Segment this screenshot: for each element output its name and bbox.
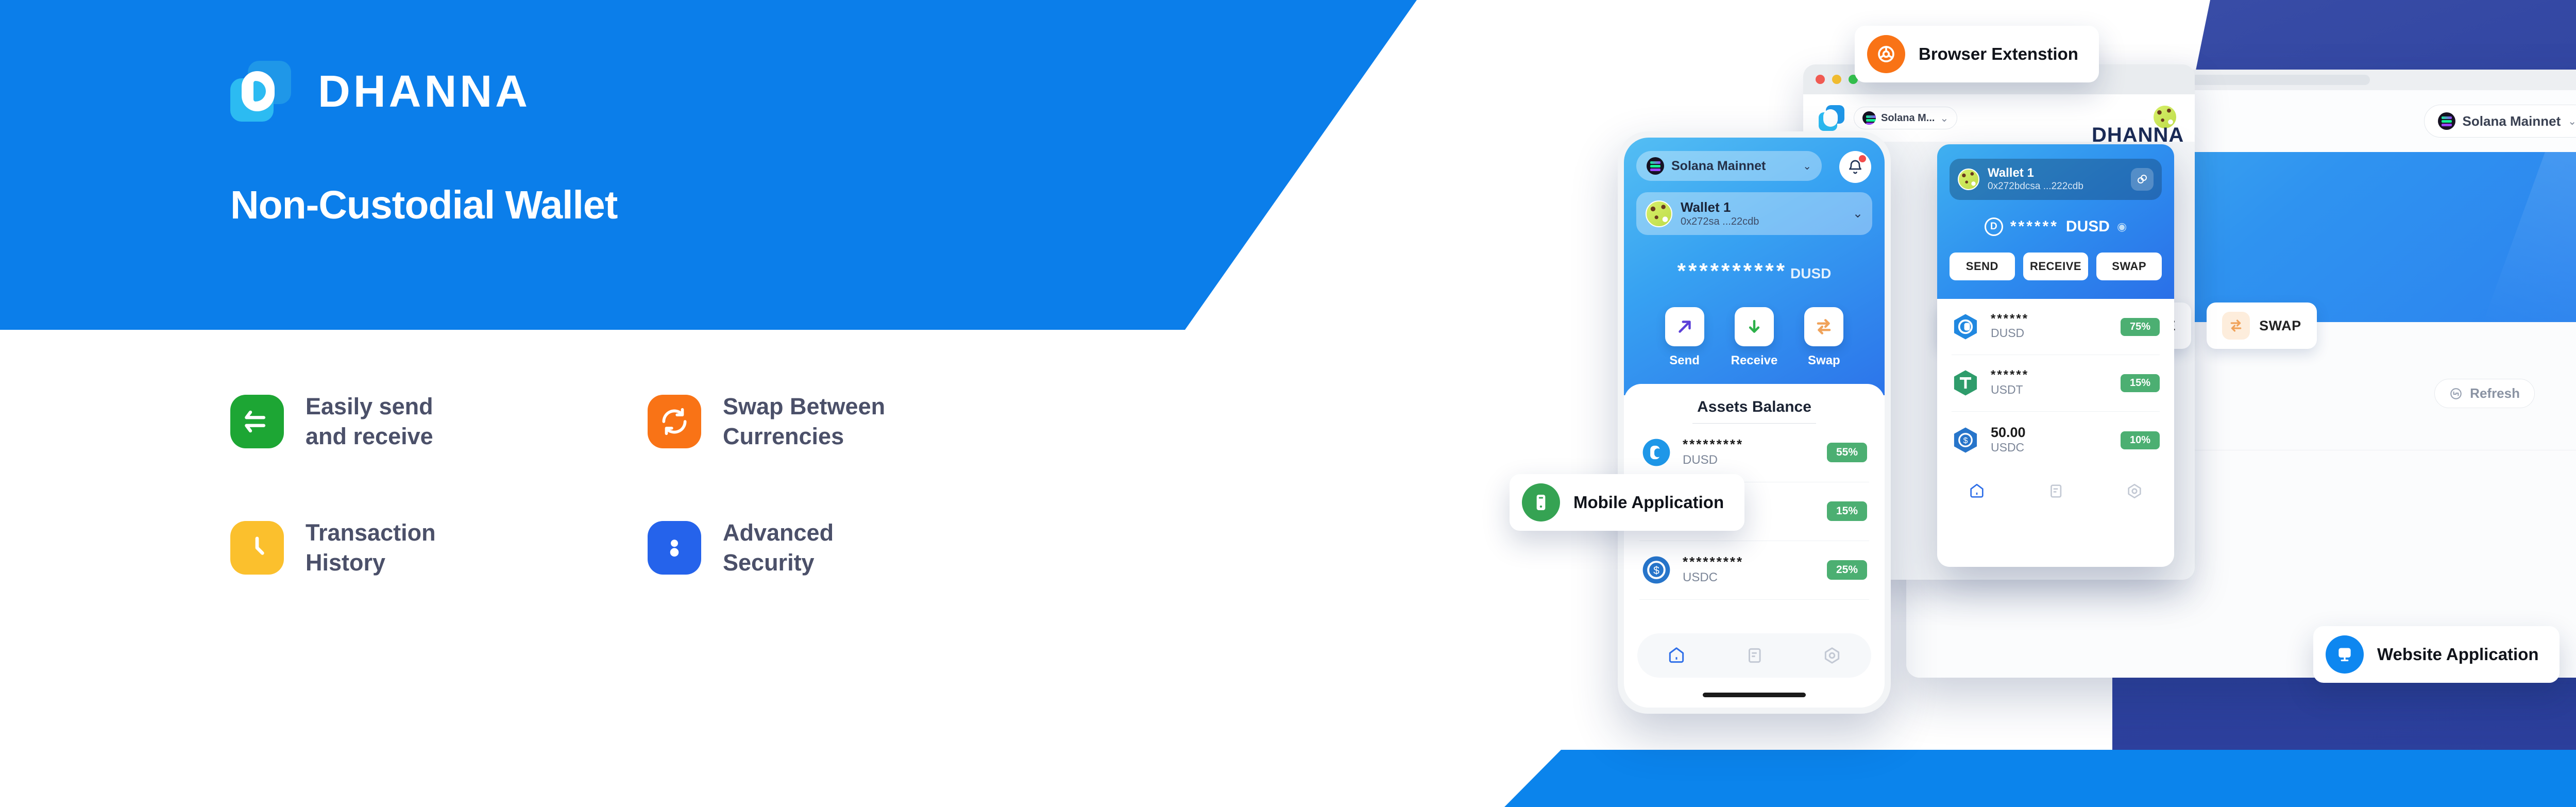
balance-currency: DUSD [1790, 265, 1831, 281]
chevron-down-icon: ⌄ [2568, 115, 2576, 128]
badge-label: Website Application [2377, 645, 2539, 664]
send-button[interactable]: SEND [1950, 253, 2015, 280]
swap-button-label: Swap [1804, 354, 1843, 368]
chevron-down-icon: ⌄ [1803, 160, 1811, 173]
phone-tab-bar [1637, 633, 1871, 678]
refresh-button[interactable]: Refresh [2434, 379, 2535, 408]
asset-amount: ********* [1683, 554, 1743, 569]
product-mockups: Solana Mainnet ⌄ SEND [0, 0, 2576, 807]
send-button-label: Send [1665, 354, 1704, 368]
account-address: 0x272bdcsa ...222cdb [1988, 181, 2083, 193]
asset-amount: 50.00 [1991, 425, 2026, 441]
extension-brand-title: DHANNA [2092, 124, 2184, 147]
account-selector[interactable]: Wallet 1 0x272bdcsa ...222cdb [1950, 159, 2162, 200]
network-label: Solana Mainnet [2463, 113, 2561, 129]
avatar [1958, 169, 1979, 190]
network-label: Solana Mainnet [1671, 159, 1766, 174]
status-badge: 10% [2121, 431, 2160, 449]
network-label: Solana M... [1881, 112, 1935, 124]
receive-button-label: Receive [1731, 354, 1778, 368]
network-selector[interactable]: Solana Mainnet ⌄ [1636, 151, 1822, 181]
balance-masked: ********** [1677, 259, 1787, 283]
asset-amount: ****** [1991, 312, 2029, 326]
badge-mobile-application: Mobile Application [1510, 474, 1744, 531]
eye-icon[interactable]: ◉ [2117, 220, 2127, 233]
list-item[interactable]: $ 50.00 USDC 10% [1952, 412, 2160, 469]
phone-hero: Solana Mainnet ⌄ Wallet 1 0x272sa ...22c… [1624, 138, 1885, 395]
arrow-down-icon [1735, 307, 1774, 346]
badge-browser-extension: Browser Extenstion [1855, 26, 2099, 82]
refresh-icon [2449, 387, 2463, 400]
badge-label: Browser Extenstion [1919, 44, 2078, 64]
settings-icon[interactable] [2126, 482, 2143, 500]
arrow-up-right-icon [1665, 307, 1704, 346]
dusd-coin-icon [1952, 313, 1979, 341]
notifications-button[interactable] [1839, 151, 1871, 183]
activity-document-icon[interactable] [2047, 482, 2064, 500]
network-selector[interactable]: Solana M... ⌄ [1854, 107, 1957, 129]
usdc-coin-icon: $ [1952, 426, 1979, 454]
svg-text:$: $ [1653, 565, 1659, 577]
swap-button[interactable]: SWAP [2096, 253, 2162, 280]
receive-button[interactable]: RECEIVE [2023, 253, 2089, 280]
chevron-down-icon: ⌄ [1940, 112, 1948, 125]
status-badge: 25% [1827, 560, 1867, 580]
receive-button[interactable]: Receive [1731, 307, 1778, 368]
solana-icon [1647, 157, 1664, 175]
minimize-icon[interactable] [1832, 75, 1841, 84]
extension-action-buttons: SEND RECEIVE SWAP [1950, 253, 2162, 280]
solana-icon [2438, 112, 2455, 130]
send-button[interactable]: Send [1665, 307, 1704, 368]
asset-symbol: USDT [1991, 382, 2029, 398]
list-item[interactable]: ********* DUSD 55% [1639, 424, 1869, 482]
dhanna-logo-icon [1819, 105, 1844, 131]
account-name: Wallet 1 [1988, 166, 2083, 181]
activity-document-icon[interactable] [1744, 646, 1764, 665]
refresh-button-label: Refresh [2470, 385, 2520, 401]
extension-asset-list: ****** DUSD 75% ****** USDT 15% [1937, 299, 2174, 469]
badge-website-application: Website Application [2313, 626, 2560, 683]
asset-amount: ********* [1683, 437, 1743, 452]
chevron-down-icon: ⌄ [1853, 206, 1863, 221]
avatar [1646, 200, 1672, 227]
assets-balance-title: Assets Balance [1639, 398, 1869, 416]
copy-icon[interactable] [2131, 168, 2154, 191]
extension-tab-bar [1937, 469, 2174, 510]
list-item[interactable]: ****** DUSD 75% [1952, 299, 2160, 355]
badge-label: Mobile Application [1573, 493, 1724, 512]
dusd-coin-icon: D [1985, 217, 2003, 236]
asset-symbol: USDC [1991, 440, 2026, 456]
swap-arrows-icon [1804, 307, 1843, 346]
list-item[interactable]: $ ********* USDC 25% [1639, 541, 1869, 600]
balance-display: **********DUSD [1636, 259, 1872, 283]
close-icon[interactable] [1816, 75, 1825, 84]
list-item[interactable]: ****** USDT 15% [1952, 355, 2160, 411]
home-indicator [1703, 693, 1806, 697]
status-badge: 55% [1827, 443, 1867, 462]
dusd-coin-icon [1641, 438, 1671, 467]
network-selector[interactable]: Solana Mainnet ⌄ [2424, 105, 2576, 138]
asset-symbol: DUSD [1991, 326, 2029, 341]
home-icon[interactable] [1667, 646, 1686, 665]
account-name: Wallet 1 [1681, 199, 1759, 215]
asset-symbol: USDC [1683, 569, 1743, 586]
balance-masked: ****** [2010, 218, 2059, 236]
mobile-application-mockup: Solana Mainnet ⌄ Wallet 1 0x272sa ...22c… [1618, 131, 1891, 714]
phone-screen: Solana Mainnet ⌄ Wallet 1 0x272sa ...22c… [1624, 138, 1885, 708]
usdc-coin-icon: $ [1641, 555, 1671, 585]
status-badge: 15% [2121, 374, 2160, 392]
status-badge: 75% [2121, 318, 2160, 336]
swap-button[interactable]: SWAP [2207, 302, 2317, 349]
status-badge: 15% [1827, 501, 1867, 521]
account-address: 0x272sa ...22cdb [1681, 215, 1759, 228]
balance-display: D ****** DUSD ◉ [1950, 217, 2162, 236]
swap-button-label: SWAP [2259, 318, 2301, 334]
solana-icon [1862, 111, 1876, 125]
account-selector[interactable]: Wallet 1 0x272sa ...22cdb ⌄ [1636, 192, 1872, 235]
asset-symbol: DUSD [1683, 452, 1743, 468]
chrome-browser-icon [1867, 35, 1905, 73]
usdt-coin-icon [1952, 369, 1979, 397]
desktop-monitor-icon [2326, 635, 2364, 674]
home-icon[interactable] [1968, 482, 1986, 500]
settings-icon[interactable] [1822, 646, 1842, 665]
mobile-phone-icon [1522, 483, 1560, 522]
svg-text:$: $ [1963, 436, 1968, 445]
swap-arrows-icon [2222, 312, 2250, 340]
extension-popup: Wallet 1 0x272bdcsa ...222cdb D ****** D… [1937, 144, 2174, 567]
phone-action-buttons: Send Receive [1636, 307, 1872, 368]
notification-dot [1859, 155, 1866, 162]
extension-hero: Wallet 1 0x272bdcsa ...222cdb D ****** D… [1937, 144, 2174, 299]
balance-currency: DUSD [2066, 218, 2110, 236]
swap-button[interactable]: Swap [1804, 307, 1843, 368]
asset-amount: ****** [1991, 368, 2029, 382]
